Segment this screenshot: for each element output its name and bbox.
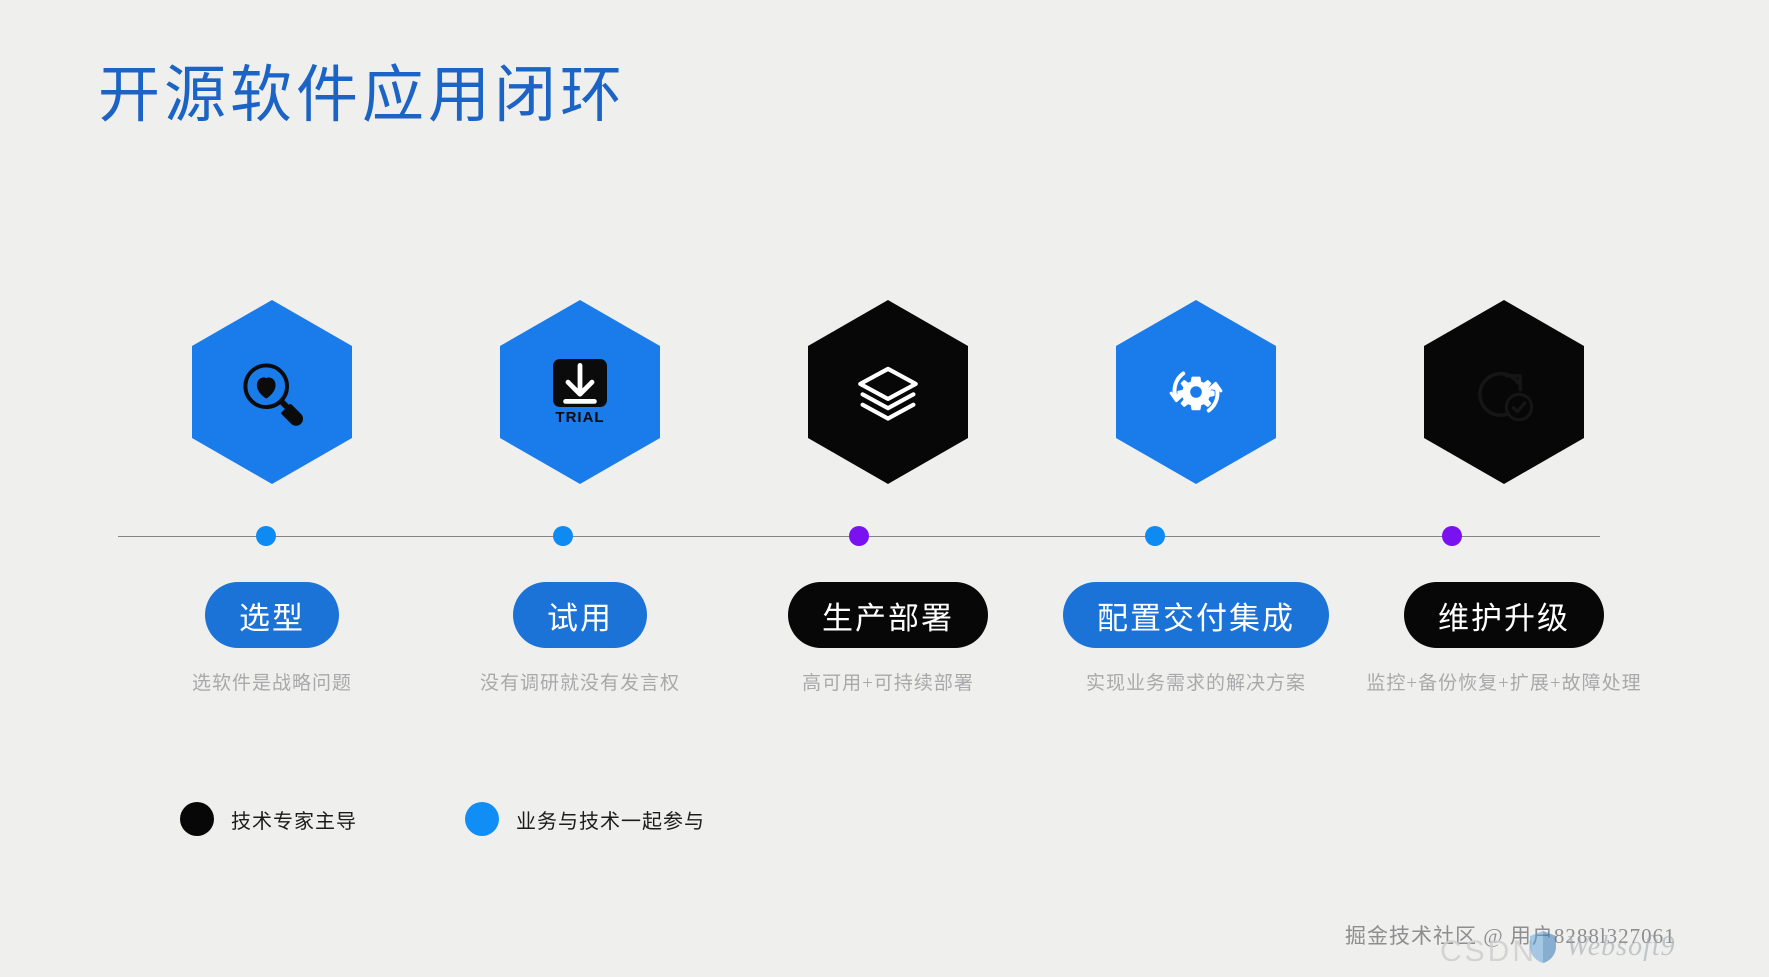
step-3 [734,300,1042,560]
legend-swatch-blue-icon [465,802,499,836]
step-4-pill[interactable]: 配置交付集成 [1063,582,1329,648]
timeline-dot-2[interactable] [553,526,573,546]
step-1-hexagon[interactable] [192,300,352,484]
legend: 技术专家主导 业务与技术一起参与 [180,802,705,836]
timeline-dot-3[interactable] [849,526,869,546]
step-1 [118,300,426,560]
step-1-pill[interactable]: 选型 [205,582,339,648]
step-4-caption: 实现业务需求的解决方案 [1086,668,1306,695]
step-4 [1042,300,1350,560]
step-3-label-cell: 生产部署 高可用+可持续部署 [734,582,1042,695]
gear-sync-icon [1159,355,1233,429]
step-2-caption: 没有调研就没有发言权 [480,668,680,695]
watermark-csdn: CSDN [1440,935,1537,969]
refresh-check-icon [1467,355,1541,429]
download-box-icon [553,359,607,407]
timeline-dot-5[interactable] [1442,526,1462,546]
legend-label-blue: 业务与技术一起参与 [516,805,705,834]
legend-swatch-black-icon [180,802,214,836]
page-title: 开源软件应用闭环 [98,44,626,134]
step-2: TRIAL [426,300,734,560]
trial-label: TRIAL [555,410,604,425]
step-1-label-cell: 选型 选软件是战略问题 [118,582,426,695]
timeline-dot-cell-4 [1007,536,1303,537]
trial-download-icon: TRIAL [543,355,617,429]
step-3-caption: 高可用+可持续部署 [802,668,974,695]
step-5-caption: 监控+备份恢复+扩展+故障处理 [1366,668,1641,695]
watermark-brand: Websoft9 [1528,930,1676,964]
process-steps-row: TRIAL [118,300,1658,560]
step-4-hexagon[interactable] [1116,300,1276,484]
shield-icon [1528,930,1558,964]
step-3-hexagon[interactable] [808,300,968,484]
slide-canvas: 开源软件应用闭环 [0,0,1769,977]
step-3-pill[interactable]: 生产部署 [788,582,988,648]
step-5 [1350,300,1658,560]
timeline-dots [118,536,1600,537]
step-2-hexagon[interactable]: TRIAL [500,300,660,484]
timeline-dot-cell-2 [414,536,710,537]
brand-label: Websoft9 [1566,931,1676,963]
step-5-hexagon[interactable] [1424,300,1584,484]
timeline-dot-cell-1 [118,536,414,537]
timeline-dot-cell-5 [1304,536,1600,537]
step-2-pill[interactable]: 试用 [513,582,647,648]
step-5-label-cell: 维护升级 监控+备份恢复+扩展+故障处理 [1350,582,1658,695]
magnifier-heart-icon [235,355,309,429]
timeline-dot-cell-3 [711,536,1007,537]
legend-item-black: 技术专家主导 [180,802,357,836]
step-1-caption: 选软件是战略问题 [192,668,352,695]
layers-stack-icon [851,355,925,429]
step-5-pill[interactable]: 维护升级 [1404,582,1604,648]
legend-label-black: 技术专家主导 [231,805,357,834]
timeline [118,536,1600,538]
step-4-label-cell: 配置交付集成 实现业务需求的解决方案 [1042,582,1350,695]
step-labels-row: 选型 选软件是战略问题 试用 没有调研就没有发言权 生产部署 高可用+可持续部署… [118,582,1658,695]
step-2-label-cell: 试用 没有调研就没有发言权 [426,582,734,695]
legend-item-blue: 业务与技术一起参与 [465,802,705,836]
